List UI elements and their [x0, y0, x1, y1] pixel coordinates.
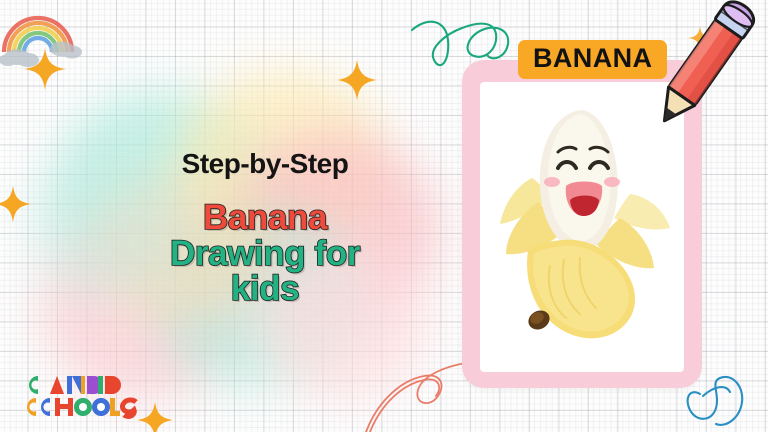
headline-kicker: Step-by-Step [110, 150, 420, 178]
title-line-drawing: Drawing for [110, 236, 420, 272]
headline-title: Banana Drawing for kids [110, 200, 420, 307]
title-line-banana: Banana [110, 200, 420, 236]
banana-illustration [480, 82, 684, 372]
title-line-kids: kids [110, 271, 420, 307]
illustration-panel [480, 82, 684, 372]
illustration-card [462, 60, 702, 388]
candid-schools-logo-icon [24, 372, 139, 420]
headline-block: Step-by-Step Banana Drawing for kids [110, 150, 420, 307]
brand-logo[interactable] [24, 372, 139, 420]
banana-badge: BANANA [518, 40, 667, 79]
poster-canvas: Step-by-Step Banana Drawing for kids [0, 0, 768, 432]
